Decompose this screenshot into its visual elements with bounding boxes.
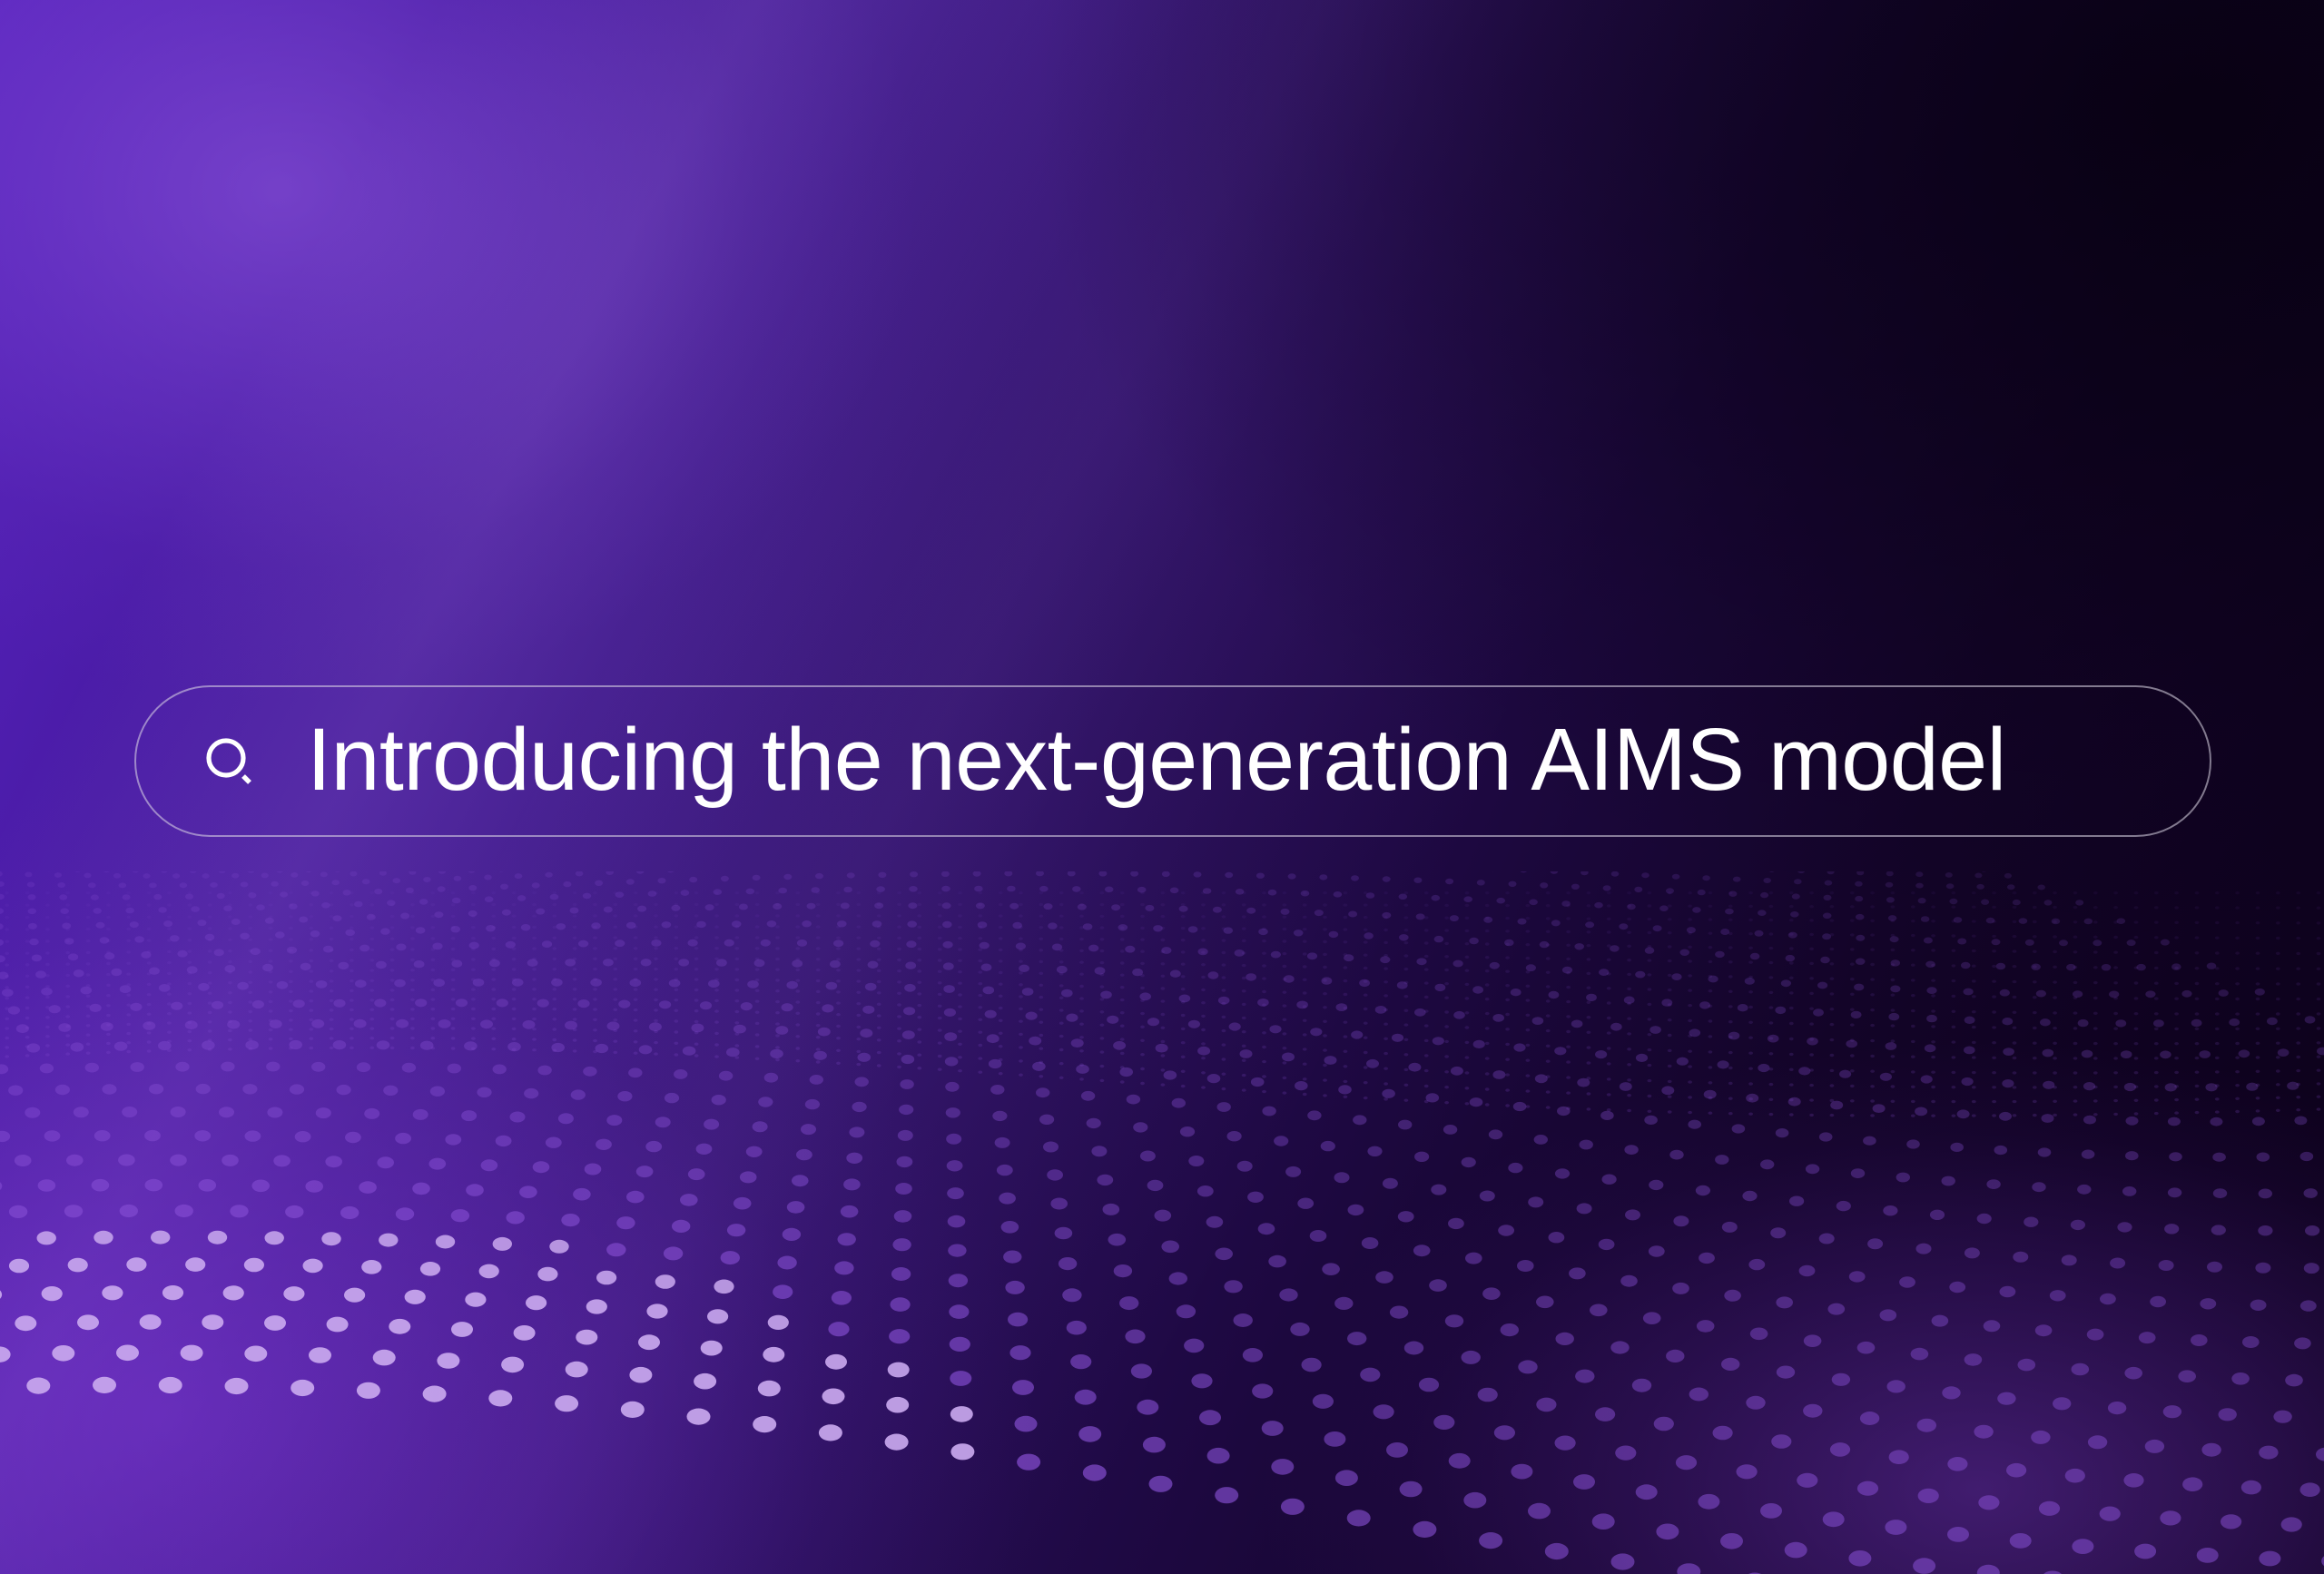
announcement-text: Introducing the next-generation AIMS mod…	[307, 715, 2006, 803]
search-icon	[203, 735, 260, 792]
dotted-wave-pattern	[0, 871, 2324, 1574]
hero-banner: Introducing the next-generation AIMS mod…	[0, 0, 2324, 1574]
announcement-pill-button[interactable]: Introducing the next-generation AIMS mod…	[134, 685, 2211, 837]
